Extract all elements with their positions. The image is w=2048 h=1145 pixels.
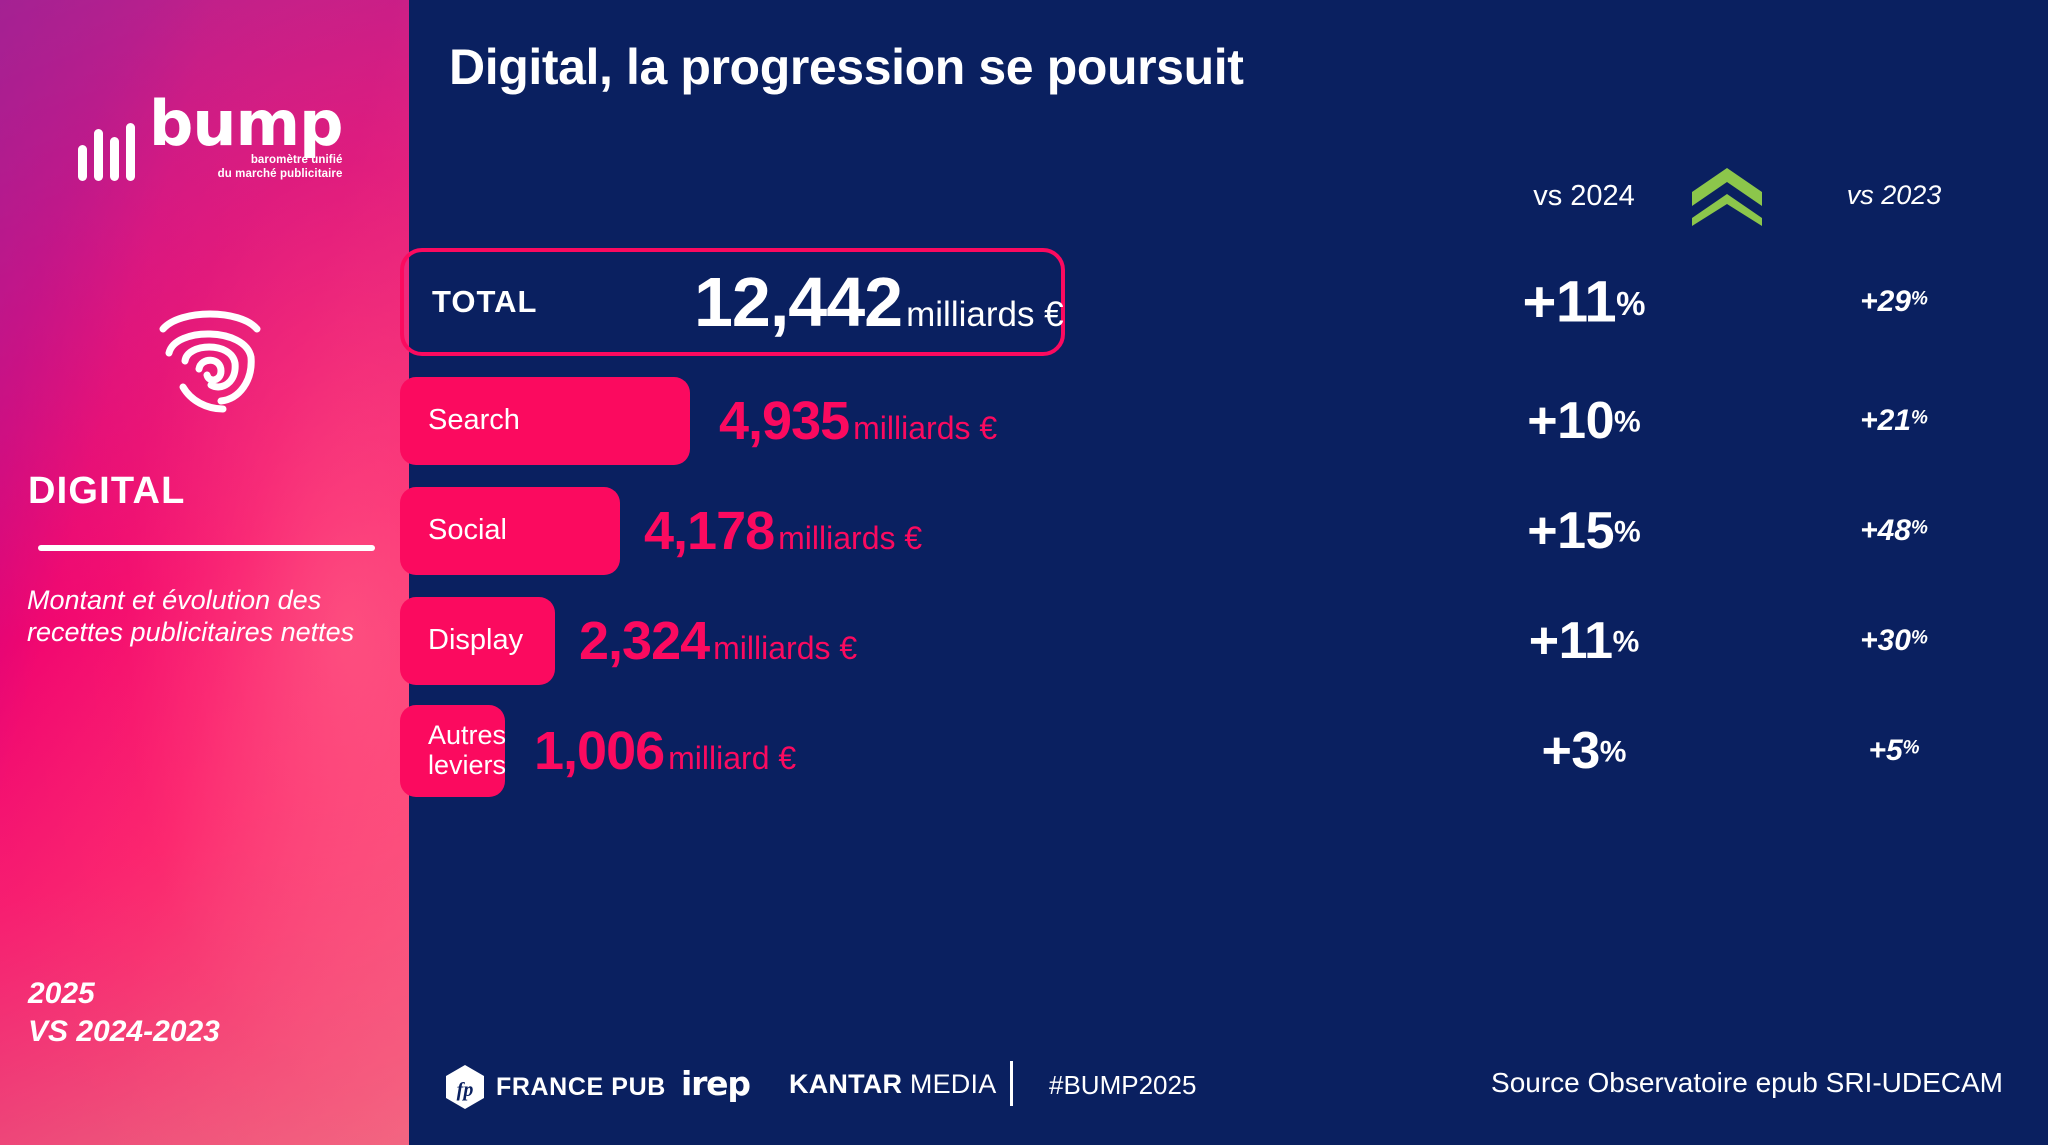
fingerprint-icon [155,295,265,420]
data-row: Autresleviers1,006milliard €+3%+5% [409,696,2048,806]
data-row: Social4,178milliards €+15%+48% [409,476,2048,586]
category-description: Montant et évolution des recettes public… [27,585,367,649]
period-label: 2025 VS 2024-2023 [28,975,220,1050]
column-header-vs-2023: vs 2023 [1794,180,1994,211]
svg-text:fp: fp [457,1079,474,1101]
row-label: Autresleviers [428,721,506,780]
bump-logo: bump baromètre unifié du marché publicit… [78,98,343,181]
row-value-unit: milliard € [668,740,796,776]
data-row: Search4,935milliards €+10%+21% [409,366,2048,476]
france-pub-hexagon-icon: fp [446,1065,484,1109]
row-value: 12,442milliards € [694,262,1064,342]
kantar-label: KANTAR [789,1069,902,1099]
france-pub-logo: fp FRANCE PUB [446,1065,666,1109]
data-row: TOTAL12,442milliards €+11%+29% [409,238,2048,366]
bars-icon [78,123,135,181]
row-value: 2,324milliards € [579,610,857,672]
row-change-vs-2023: +48% [1794,514,1994,548]
irep-logo: irep [681,1064,750,1103]
category-bar: Autresleviers [400,705,505,797]
row-value: 4,178milliards € [644,500,922,562]
sidebar: bump baromètre unifié du marché publicit… [0,0,409,1145]
source-label: Source Observatoire epub SRI-UDECAM [1491,1067,2003,1099]
row-change-vs-2023: +21% [1794,404,1994,438]
row-change-vs-2024: +11% [1484,611,1684,671]
footer: fp FRANCE PUB irep KANTAR MEDIA #BUMP202… [409,1059,2048,1117]
row-change-vs-2024: +11% [1484,269,1684,336]
bump-wordmark: bump [149,98,343,150]
row-value-number: 4,178 [644,501,774,561]
row-value: 4,935milliards € [719,390,997,452]
category-bar: Social [400,487,620,575]
row-value: 1,006milliard € [534,720,796,782]
row-change-vs-2024: +3% [1484,721,1684,781]
page-title: Digital, la progression se poursuit [449,38,1243,96]
media-label: MEDIA [910,1069,997,1099]
main-panel: Digital, la progression se poursuit vs 2… [409,0,2048,1145]
row-value-unit: milliards € [713,630,857,666]
row-value-number: 1,006 [534,721,664,781]
row-label: Social [428,515,507,547]
period-comparison: VS 2024-2023 [28,1013,220,1051]
hashtag-label: #BUMP2025 [1049,1070,1196,1101]
column-header-vs-2024: vs 2024 [1484,180,1684,213]
row-label: Display [428,625,523,657]
category-bar: Search [400,377,690,465]
row-label: Search [428,405,520,437]
row-label: TOTAL [404,285,537,319]
data-rows: TOTAL12,442milliards €+11%+29%Search4,93… [409,238,2048,806]
france-pub-label: FRANCE PUB [496,1073,666,1102]
kantar-media-logo: KANTAR MEDIA [789,1069,996,1100]
row-change-vs-2024: +10% [1484,391,1684,451]
row-value-unit: milliards € [853,410,997,446]
row-value-unit: milliards € [778,520,922,556]
bump-tagline-line2: du marché publicitaire [149,167,343,181]
row-value-number: 12,442 [694,263,902,341]
category-divider [38,545,375,551]
footer-divider [1010,1061,1013,1106]
row-value-unit: milliards € [906,295,1064,334]
row-change-vs-2024: +15% [1484,501,1684,561]
row-value-number: 2,324 [579,611,709,671]
period-year: 2025 [28,975,220,1013]
category-bar: Display [400,597,555,685]
row-change-vs-2023: +5% [1794,734,1994,768]
row-change-vs-2023: +29% [1794,285,1994,319]
category-title: DIGITAL [28,470,186,513]
row-change-vs-2023: +30% [1794,624,1994,658]
double-chevron-up-icon [1692,168,1762,226]
data-row: Display2,324milliards €+11%+30% [409,586,2048,696]
row-value-number: 4,935 [719,391,849,451]
slide-root: bump baromètre unifié du marché publicit… [0,0,2048,1145]
